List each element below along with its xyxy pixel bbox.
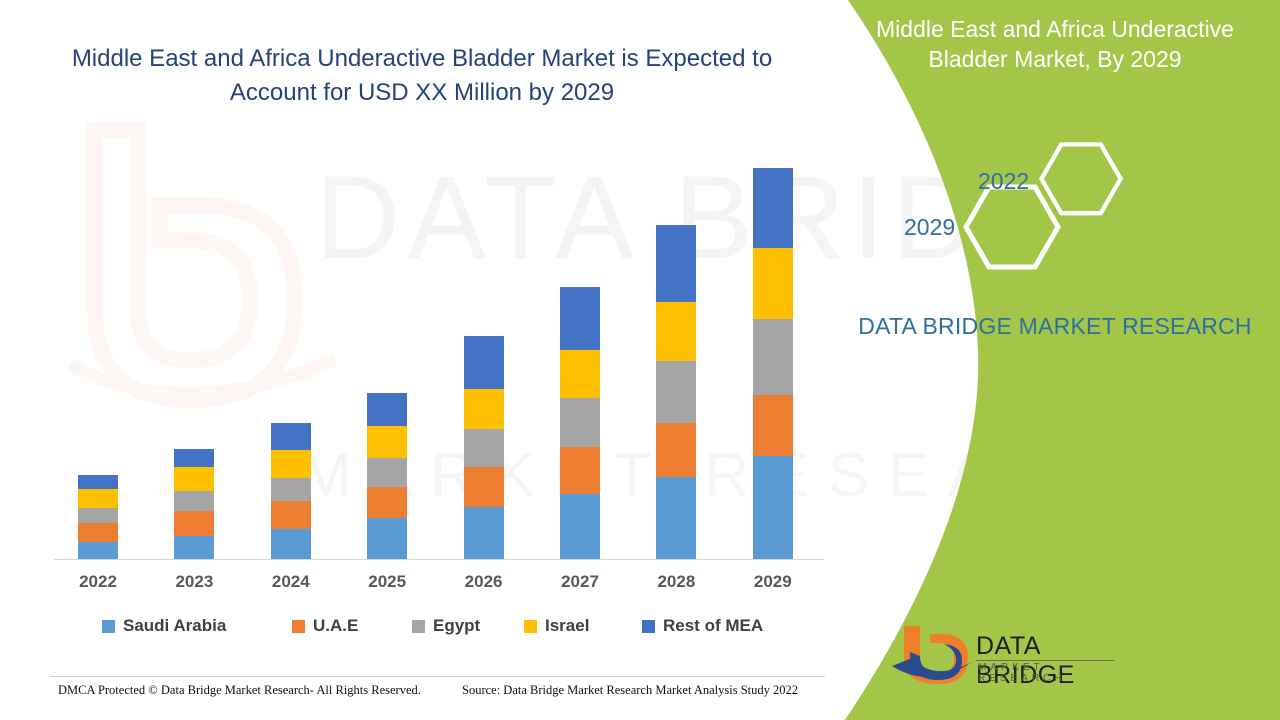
- segment-u-a-e-2024: [271, 501, 311, 528]
- legend-item-saudi-arabia[interactable]: Saudi Arabia: [102, 616, 226, 636]
- chart-legend: Saudi ArabiaU.A.EEgyptIsraelRest of MEA: [54, 616, 824, 642]
- segment-egypt-2024: [271, 478, 311, 501]
- legend-item-rest-of-mea[interactable]: Rest of MEA: [642, 616, 763, 636]
- segment-egypt-2029: [753, 319, 793, 396]
- segment-u-a-e-2028: [656, 423, 696, 478]
- segment-israel-2022: [78, 489, 118, 508]
- legend-swatch-icon: [102, 620, 115, 633]
- bar-2023: [174, 449, 214, 559]
- legend-item-u-a-e[interactable]: U.A.E: [292, 616, 358, 636]
- segment-egypt-2022: [78, 508, 118, 524]
- segment-israel-2023: [174, 467, 214, 491]
- legend-label: Rest of MEA: [663, 616, 763, 636]
- stacked-bar-chart: [54, 160, 824, 560]
- bar-2026: [464, 336, 504, 559]
- segment-u-a-e-2022: [78, 523, 118, 542]
- footer-divider: [50, 676, 825, 677]
- footer-source: Source: Data Bridge Market Research Mark…: [462, 683, 798, 698]
- legend-swatch-icon: [642, 620, 655, 633]
- bar-2024: [271, 423, 311, 559]
- x-label-2024: 2024: [261, 572, 321, 592]
- segment-rest-of-mea-2024: [271, 423, 311, 450]
- segment-u-a-e-2029: [753, 395, 793, 456]
- legend-label: U.A.E: [313, 616, 358, 636]
- page-title: Middle East and Africa Underactive Bladd…: [52, 42, 792, 110]
- segment-u-a-e-2023: [174, 511, 214, 536]
- segment-israel-2028: [656, 302, 696, 361]
- segment-u-a-e-2026: [464, 467, 504, 507]
- panel-brand-name: DATA BRIDGE MARKET RESEARCH: [830, 310, 1280, 342]
- segment-saudi-arabia-2022: [78, 542, 118, 559]
- segment-u-a-e-2025: [367, 487, 407, 519]
- segment-saudi-arabia-2025: [367, 518, 407, 559]
- bar-2028: [656, 225, 696, 559]
- legend-item-egypt[interactable]: Egypt: [412, 616, 480, 636]
- green-panel-shape: [830, 0, 1280, 720]
- segment-israel-2025: [367, 426, 407, 459]
- x-label-2026: 2026: [454, 572, 514, 592]
- segment-rest-of-mea-2025: [367, 393, 407, 426]
- x-label-2025: 2025: [357, 572, 417, 592]
- logo-mark-icon: [890, 622, 974, 688]
- infographic-canvas: DATA BRIDGE MARKET RESEARCH Middle East …: [0, 0, 1280, 720]
- databridge-logo: DATA BRIDGE MARKET RESEARCH: [890, 622, 1120, 694]
- segment-saudi-arabia-2023: [174, 536, 214, 559]
- segment-israel-2029: [753, 248, 793, 318]
- segment-egypt-2026: [464, 429, 504, 467]
- hexagon-shapes: [830, 132, 1280, 282]
- segment-saudi-arabia-2024: [271, 529, 311, 559]
- hex-label-2022: 2022: [978, 168, 1029, 195]
- panel-title: Middle East and Africa Underactive Bladd…: [830, 14, 1280, 74]
- segment-israel-2026: [464, 389, 504, 429]
- x-label-2029: 2029: [743, 572, 803, 592]
- bar-2022: [78, 475, 118, 559]
- bar-2029: [753, 168, 793, 559]
- logo-tagline: MARKET RESEARCH: [978, 662, 1120, 684]
- segment-rest-of-mea-2022: [78, 475, 118, 489]
- bar-2025: [367, 393, 407, 559]
- segment-rest-of-mea-2028: [656, 225, 696, 302]
- x-label-2028: 2028: [646, 572, 706, 592]
- segment-saudi-arabia-2026: [464, 507, 504, 560]
- x-label-2023: 2023: [164, 572, 224, 592]
- segment-egypt-2028: [656, 361, 696, 423]
- legend-label: Saudi Arabia: [123, 616, 226, 636]
- segment-israel-2027: [560, 350, 600, 398]
- hexagon-group: 2029 2022: [830, 132, 1280, 282]
- segment-saudi-arabia-2028: [656, 477, 696, 559]
- legend-swatch-icon: [524, 620, 537, 633]
- segment-egypt-2025: [367, 458, 407, 486]
- brand-panel: Middle East and Africa Underactive Bladd…: [830, 0, 1280, 720]
- segment-saudi-arabia-2029: [753, 456, 793, 559]
- legend-label: Israel: [545, 616, 589, 636]
- legend-label: Egypt: [433, 616, 480, 636]
- segment-rest-of-mea-2026: [464, 336, 504, 389]
- legend-item-israel[interactable]: Israel: [524, 616, 589, 636]
- segment-saudi-arabia-2027: [560, 494, 600, 559]
- hex-label-2029: 2029: [904, 214, 955, 241]
- segment-rest-of-mea-2029: [753, 168, 793, 248]
- x-label-2027: 2027: [550, 572, 610, 592]
- chart-x-axis-labels: 20222023202420252026202720282029: [54, 572, 824, 596]
- segment-rest-of-mea-2023: [174, 449, 214, 467]
- footer-copyright: DMCA Protected © Data Bridge Market Rese…: [58, 683, 421, 698]
- segment-rest-of-mea-2027: [560, 287, 600, 350]
- legend-swatch-icon: [292, 620, 305, 633]
- segment-israel-2024: [271, 450, 311, 478]
- logo-underline: [976, 660, 1114, 661]
- segment-egypt-2027: [560, 398, 600, 446]
- segment-u-a-e-2027: [560, 447, 600, 494]
- segment-egypt-2023: [174, 491, 214, 511]
- x-label-2022: 2022: [68, 572, 128, 592]
- chart-baseline: [54, 559, 824, 560]
- legend-swatch-icon: [412, 620, 425, 633]
- bar-2027: [560, 287, 600, 559]
